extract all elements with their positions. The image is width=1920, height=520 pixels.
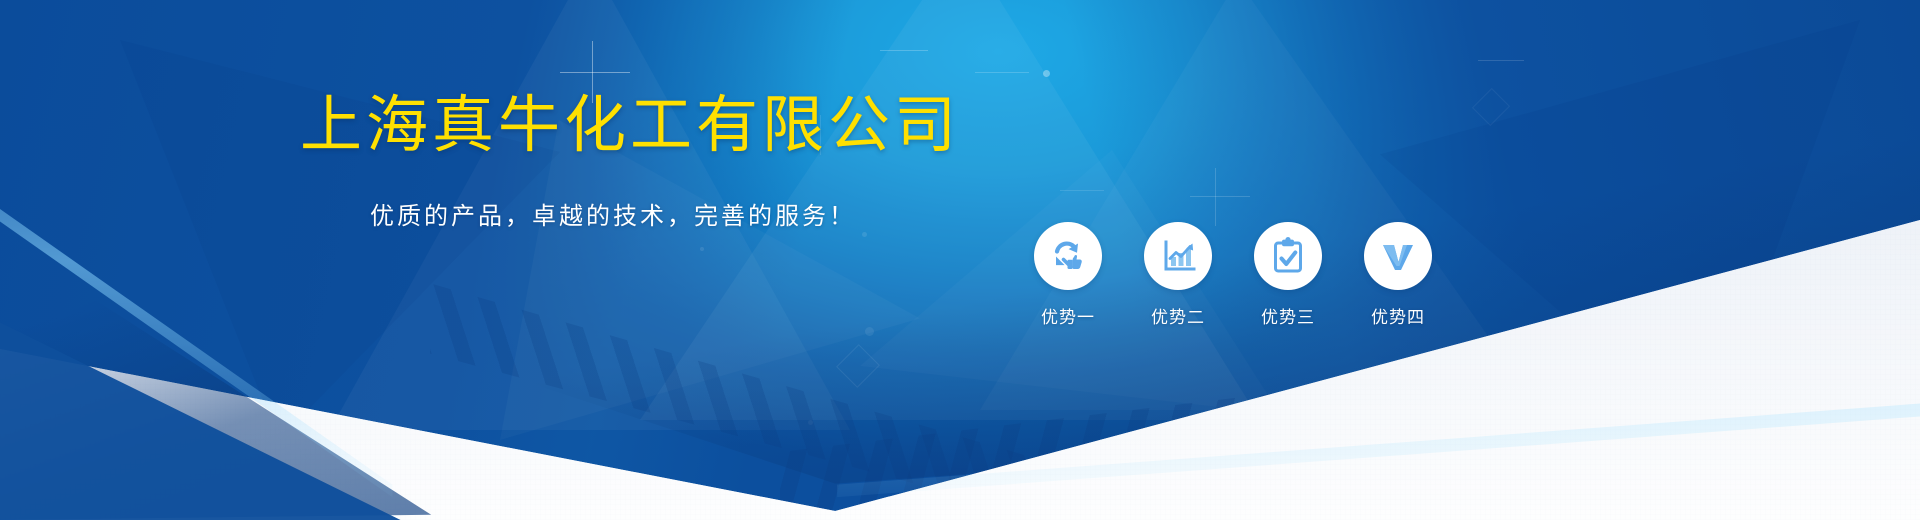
advantage-icon-circle	[1364, 222, 1432, 290]
advantage-label: 优势三	[1261, 303, 1315, 328]
advantage-label: 优势四	[1371, 303, 1425, 328]
company-title: 上海真牛化工有限公司	[300, 90, 960, 161]
advantage-item-1[interactable]: 优势一	[1034, 222, 1102, 328]
advantage-icon-circle	[1254, 222, 1322, 290]
advantage-label: 优势一	[1041, 303, 1095, 328]
clipboard-check-icon	[1268, 236, 1308, 276]
advantage-label: 优势二	[1151, 303, 1205, 328]
bar-chart-growth-icon	[1158, 236, 1198, 276]
advantage-icon-circle	[1144, 222, 1212, 290]
v-check-icon	[1378, 236, 1418, 276]
advantage-item-3[interactable]: 优势三	[1254, 222, 1322, 328]
company-slogan: 优质的产品，卓越的技术，完善的服务！	[370, 196, 856, 231]
refresh-thumbsup-icon	[1048, 236, 1088, 276]
advantage-item-4[interactable]: 优势四	[1364, 222, 1432, 328]
advantage-list: 优势一 优势二	[1034, 222, 1432, 328]
company-hero-banner: 上海真牛化工有限公司 优质的产品，卓越的技术，完善的服务！	[0, 0, 1920, 520]
banner-content: 上海真牛化工有限公司 优质的产品，卓越的技术，完善的服务！	[0, 0, 1920, 520]
advantage-item-2[interactable]: 优势二	[1144, 222, 1212, 328]
advantage-icon-circle	[1034, 222, 1102, 290]
